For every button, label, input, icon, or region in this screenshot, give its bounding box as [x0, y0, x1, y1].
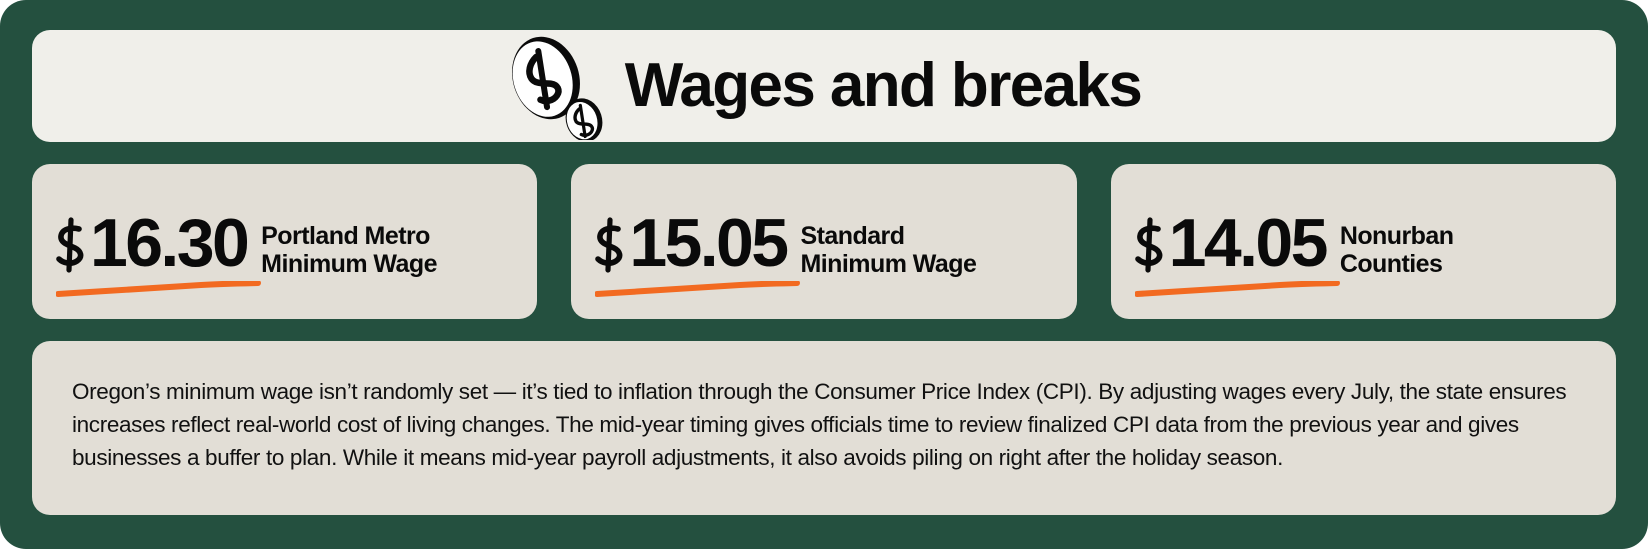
stat-card: 14.05 Nonurban Counties	[1111, 164, 1616, 319]
orange-underline-swoosh	[595, 281, 800, 297]
stat-value: 15.05	[629, 211, 786, 276]
page-title: Wages and breaks	[625, 55, 1142, 117]
coins-dollar-icon	[499, 32, 609, 140]
stat-label: Nonurban Counties	[1340, 211, 1454, 279]
dollar-sign-icon	[1133, 217, 1167, 275]
stat-card: 16.30 Portland Metro Minimum Wage	[32, 164, 537, 319]
description-paragraph: Oregon’s minimum wage isn’t randomly set…	[72, 375, 1576, 474]
stat-amount: 14.05	[1133, 211, 1326, 276]
stat-value: 16.30	[90, 211, 247, 276]
dollar-sign-icon	[593, 217, 627, 275]
stat-card-row: 16.30 Portland Metro Minimum Wage	[32, 164, 1616, 319]
stat-amount: 15.05	[593, 211, 786, 276]
stat-amount: 16.30	[54, 211, 247, 276]
stat-value: 14.05	[1169, 211, 1326, 276]
dollar-sign-icon	[54, 217, 88, 275]
header-card: Wages and breaks	[32, 30, 1616, 142]
stat-label: Portland Metro Minimum Wage	[261, 211, 437, 279]
stat-card: 15.05 Standard Minimum Wage	[571, 164, 1076, 319]
stat-label: Standard Minimum Wage	[801, 211, 977, 279]
orange-underline-swoosh	[56, 281, 261, 297]
orange-underline-swoosh	[1135, 281, 1340, 297]
description-card: Oregon’s minimum wage isn’t randomly set…	[32, 341, 1616, 515]
infographic-root: Wages and breaks 16.30 Portland Metro Mi…	[0, 0, 1648, 549]
